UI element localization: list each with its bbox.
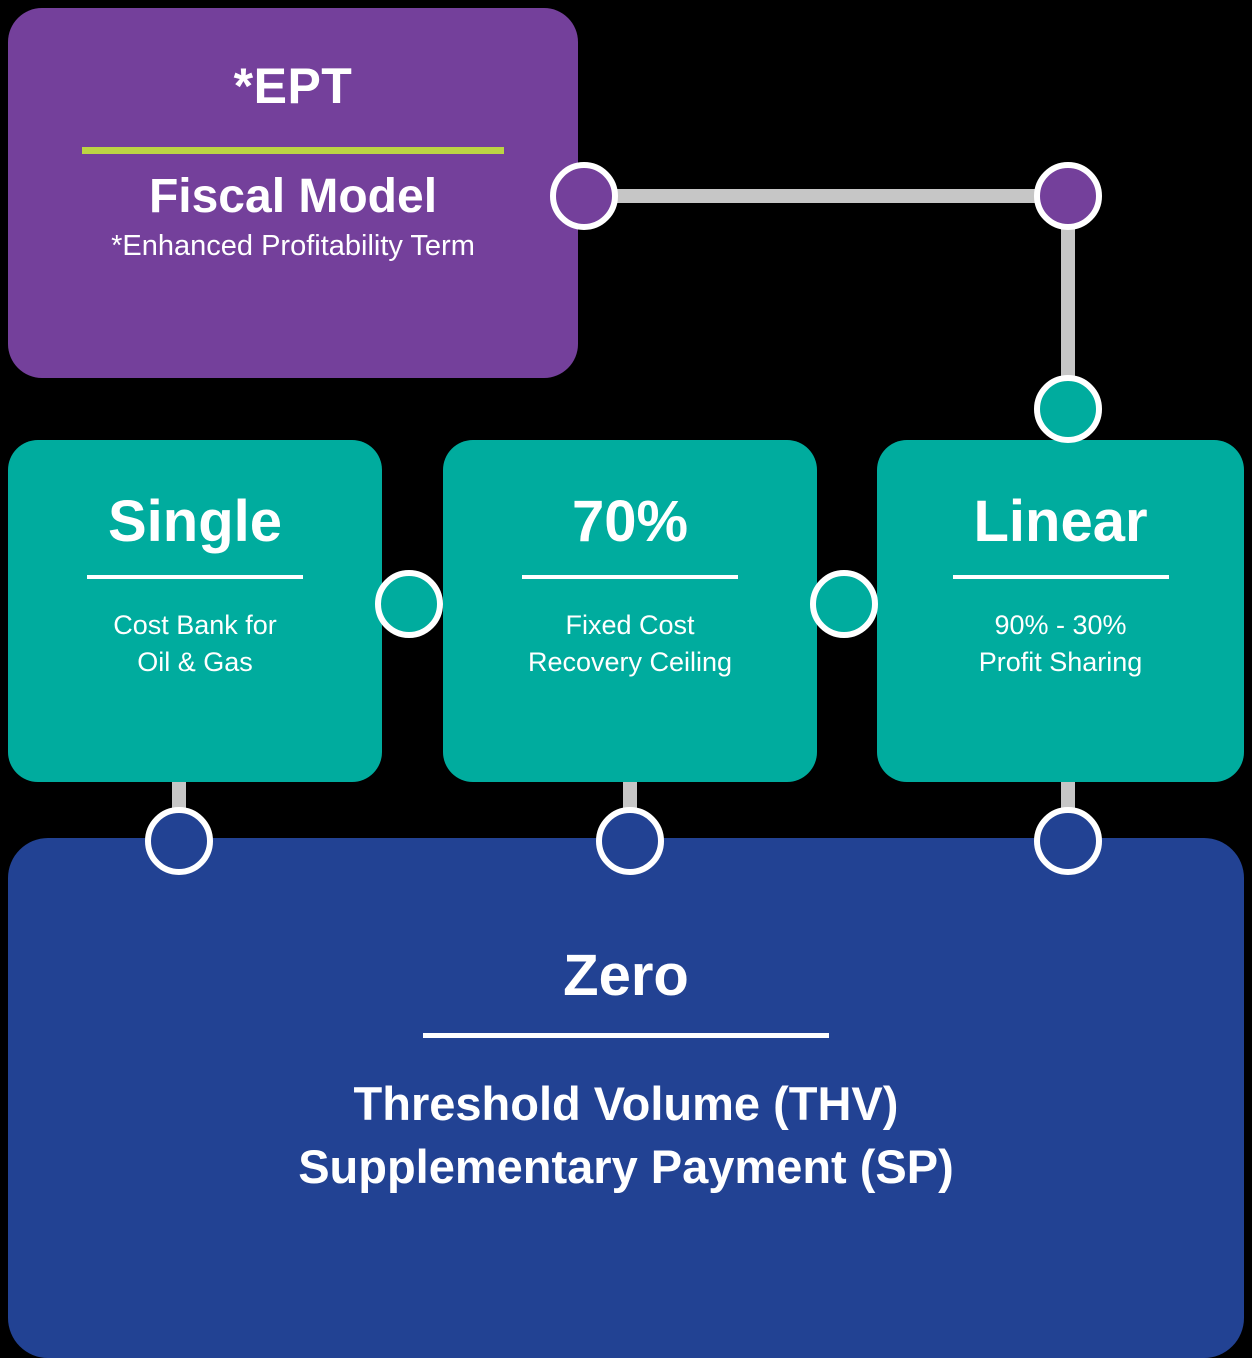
lime-divider bbox=[82, 147, 504, 154]
feature-description-line2: Oil & Gas bbox=[137, 647, 253, 677]
connector-node-seventy-right bbox=[810, 570, 878, 638]
feature-description: Fixed Cost Recovery Ceiling bbox=[528, 607, 732, 682]
white-divider bbox=[87, 575, 303, 579]
ept-subtitle: *Enhanced Profitability Term bbox=[111, 229, 475, 264]
summary-description-line1: Threshold Volume (THV) bbox=[354, 1077, 899, 1130]
feature-card-seventy-percent[interactable]: 70% Fixed Cost Recovery Ceiling bbox=[443, 440, 817, 782]
ept-title: Fiscal Model bbox=[149, 171, 437, 224]
feature-description-line1: Cost Bank for bbox=[113, 610, 277, 640]
connector-node-zero-center bbox=[596, 807, 664, 875]
ept-fiscal-model-card[interactable]: *EPT Fiscal Model *Enhanced Profitabilit… bbox=[8, 8, 578, 378]
summary-card-zero[interactable]: Zero Threshold Volume (THV) Supplementar… bbox=[8, 838, 1244, 1358]
feature-headline: 70% bbox=[572, 492, 688, 553]
feature-description-line2: Recovery Ceiling bbox=[528, 647, 732, 677]
ept-kicker: *EPT bbox=[234, 60, 353, 113]
feature-headline: Single bbox=[108, 492, 282, 553]
connector-node-corner bbox=[1034, 162, 1102, 230]
feature-description-line1: 90% - 30% bbox=[994, 610, 1126, 640]
diagram-canvas: *EPT Fiscal Model *Enhanced Profitabilit… bbox=[0, 0, 1252, 1358]
connector-node-single-right bbox=[375, 570, 443, 638]
summary-headline: Zero bbox=[563, 946, 689, 1007]
white-divider bbox=[423, 1033, 829, 1038]
connector-line-ept-to-corner bbox=[610, 189, 1076, 203]
feature-card-single[interactable]: Single Cost Bank for Oil & Gas bbox=[8, 440, 382, 782]
summary-description-line2: Supplementary Payment (SP) bbox=[298, 1140, 954, 1193]
white-divider bbox=[953, 575, 1169, 579]
connector-node-zero-right bbox=[1034, 807, 1102, 875]
feature-card-linear[interactable]: Linear 90% - 30% Profit Sharing bbox=[877, 440, 1244, 782]
connector-node-ept-right bbox=[550, 162, 618, 230]
connector-node-zero-left bbox=[145, 807, 213, 875]
summary-description: Threshold Volume (THV) Supplementary Pay… bbox=[298, 1072, 954, 1199]
feature-description-line1: Fixed Cost bbox=[565, 610, 694, 640]
feature-description: 90% - 30% Profit Sharing bbox=[979, 607, 1143, 682]
feature-headline: Linear bbox=[973, 492, 1147, 553]
feature-description-line2: Profit Sharing bbox=[979, 647, 1143, 677]
connector-node-linear-top bbox=[1034, 375, 1102, 443]
feature-description: Cost Bank for Oil & Gas bbox=[113, 607, 277, 682]
white-divider bbox=[522, 575, 738, 579]
